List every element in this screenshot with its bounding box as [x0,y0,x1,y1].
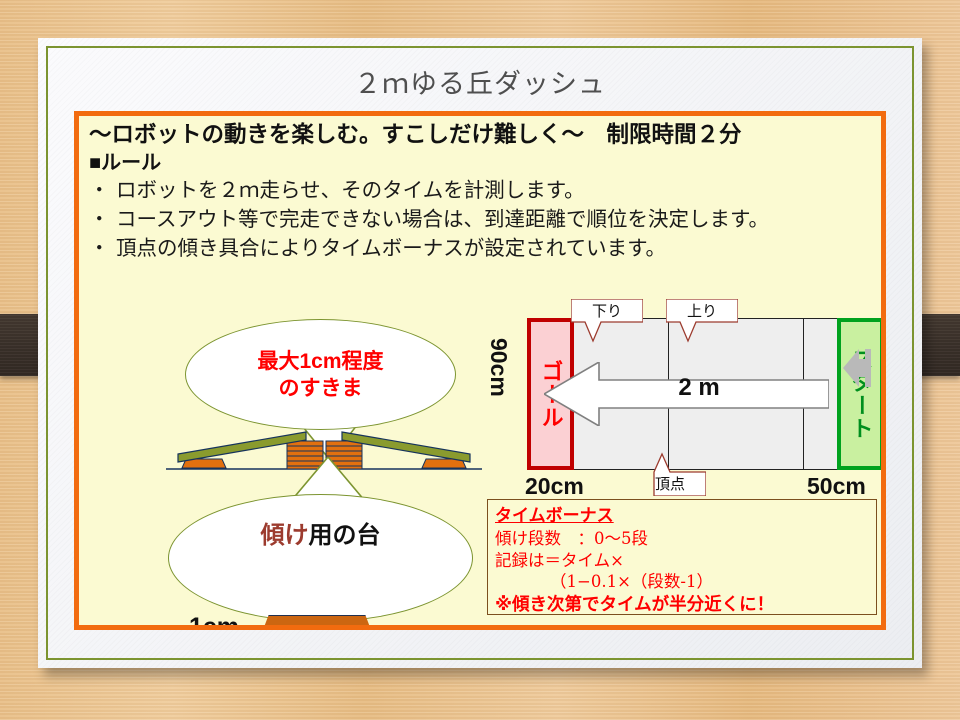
stand-trapezoid-shape [258,615,376,630]
start-zone: スタート [837,318,884,470]
callout-uphill-label: 上り [666,299,738,322]
start-width-label: 50cm [807,473,866,500]
callout-peak-label: 頂点 [634,472,706,494]
gap-callout-ellipse: 最大1cm程度 のすきま [185,319,456,430]
start-label: スタート [841,322,880,466]
distance-label: 2 m [619,374,779,402]
bonus-title: タイムボーナス [495,505,876,528]
course-height-label: 90cm [485,338,512,397]
goal-width-label: 20cm [525,473,584,500]
gap-callout-line1: 最大1cm程度 [257,348,383,375]
stand-callout-ellipse: 傾け用の台 1cm [168,494,473,622]
rule-item-2: ・ コースアウト等で完走できない場合は、到達距離で順位を決定します。 [89,205,875,234]
course-diagram: 90cm ゴール スタート 2 m 下り [489,310,884,496]
stand-callout-title: 傾け用の台 [261,521,381,551]
rule-item-3: ・ 頂点の傾き具合によりタイムボーナスが設定されています。 [89,234,875,263]
bonus-line-2: 記録は＝タイム× [495,550,876,572]
page-title: ２ｍゆる丘ダッシュ [38,62,922,101]
rules-headline: 〜ロボットの動きを楽しむ。すこしだけ難しく〜 制限時間２分 [89,120,875,150]
rules-section-label: ■ルール [89,150,875,176]
rules-block: 〜ロボットの動きを楽しむ。すこしだけ難しく〜 制限時間２分 ■ルール ・ ロボッ… [89,120,875,263]
stand-title-black: 用の台 [309,522,381,549]
bonus-line-1: 傾け段数 ：0〜5段 [495,528,876,550]
content-panel: 〜ロボットの動きを楽しむ。すこしだけ難しく〜 制限時間２分 ■ルール ・ ロボッ… [74,111,886,630]
callout-downhill-label: 下り [571,299,643,322]
rule-item-1: ・ ロボットを２ｍ走らせ、そのタイムを計測します。 [89,176,875,205]
bonus-line-4: ※傾き次第でタイムが半分近くに！ [495,593,876,617]
time-bonus-box: タイムボーナス 傾け段数 ：0〜5段 記録は＝タイム× （1−0.1×（段数-1… [487,499,877,615]
stand-title-red: 傾け [261,522,309,549]
bonus-line-3: （1−0.1×（段数-1） [495,571,876,593]
stand-height-label: 1cm [189,613,239,630]
slide-canvas: ２ｍゆる丘ダッシュ 〜ロボットの動きを楽しむ。すこしだけ難しく〜 制限時間２分 … [38,38,922,668]
left-pointer-arrow-icon [843,345,871,391]
gap-callout-line2: のすきま [279,375,363,402]
